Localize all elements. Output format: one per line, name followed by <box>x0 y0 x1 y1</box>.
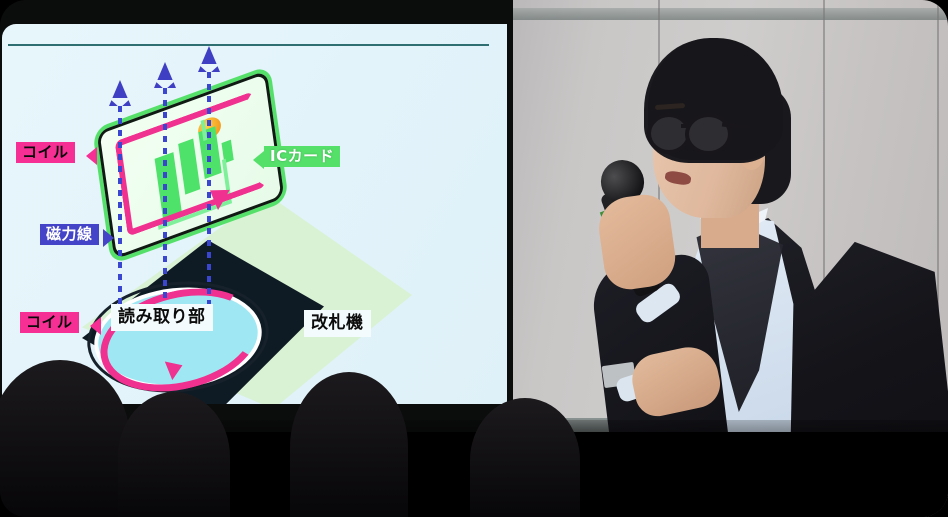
audience-head <box>470 398 580 517</box>
label-coil-card: コイル <box>16 142 75 163</box>
field-arrowhead-icon <box>198 46 220 72</box>
photograph-frame: コイル ICカード 磁力線 コイル 読み取り部 改札機 <box>0 0 948 517</box>
label-ic-card-pointer-icon <box>253 151 264 169</box>
audience-head <box>118 392 230 517</box>
slide-header-rule <box>8 44 489 46</box>
label-coil-card-pointer-icon <box>86 147 97 165</box>
slide-content: コイル ICカード 磁力線 コイル 読み取り部 改札機 <box>2 24 507 404</box>
field-arrowhead-icon <box>154 62 176 88</box>
eyeglasses-bridge <box>681 124 689 128</box>
label-coil-reader-pointer-icon <box>90 317 101 335</box>
field-line <box>118 106 122 320</box>
label-ic-card: ICカード <box>264 146 340 167</box>
label-ticket-gate: 改札機 <box>304 310 371 337</box>
field-line <box>163 88 167 326</box>
label-coil-reader: コイル <box>20 312 79 333</box>
field-arrowhead-icon <box>109 80 131 106</box>
label-field-lines: 磁力線 <box>40 224 99 245</box>
label-field-lines-pointer-icon <box>103 229 114 247</box>
audience-head <box>290 372 408 517</box>
eyeglasses-right-lens <box>685 113 732 155</box>
hand-holding-microphone <box>595 191 679 292</box>
label-reader-unit: 読み取り部 <box>111 304 213 331</box>
field-line <box>207 72 211 328</box>
